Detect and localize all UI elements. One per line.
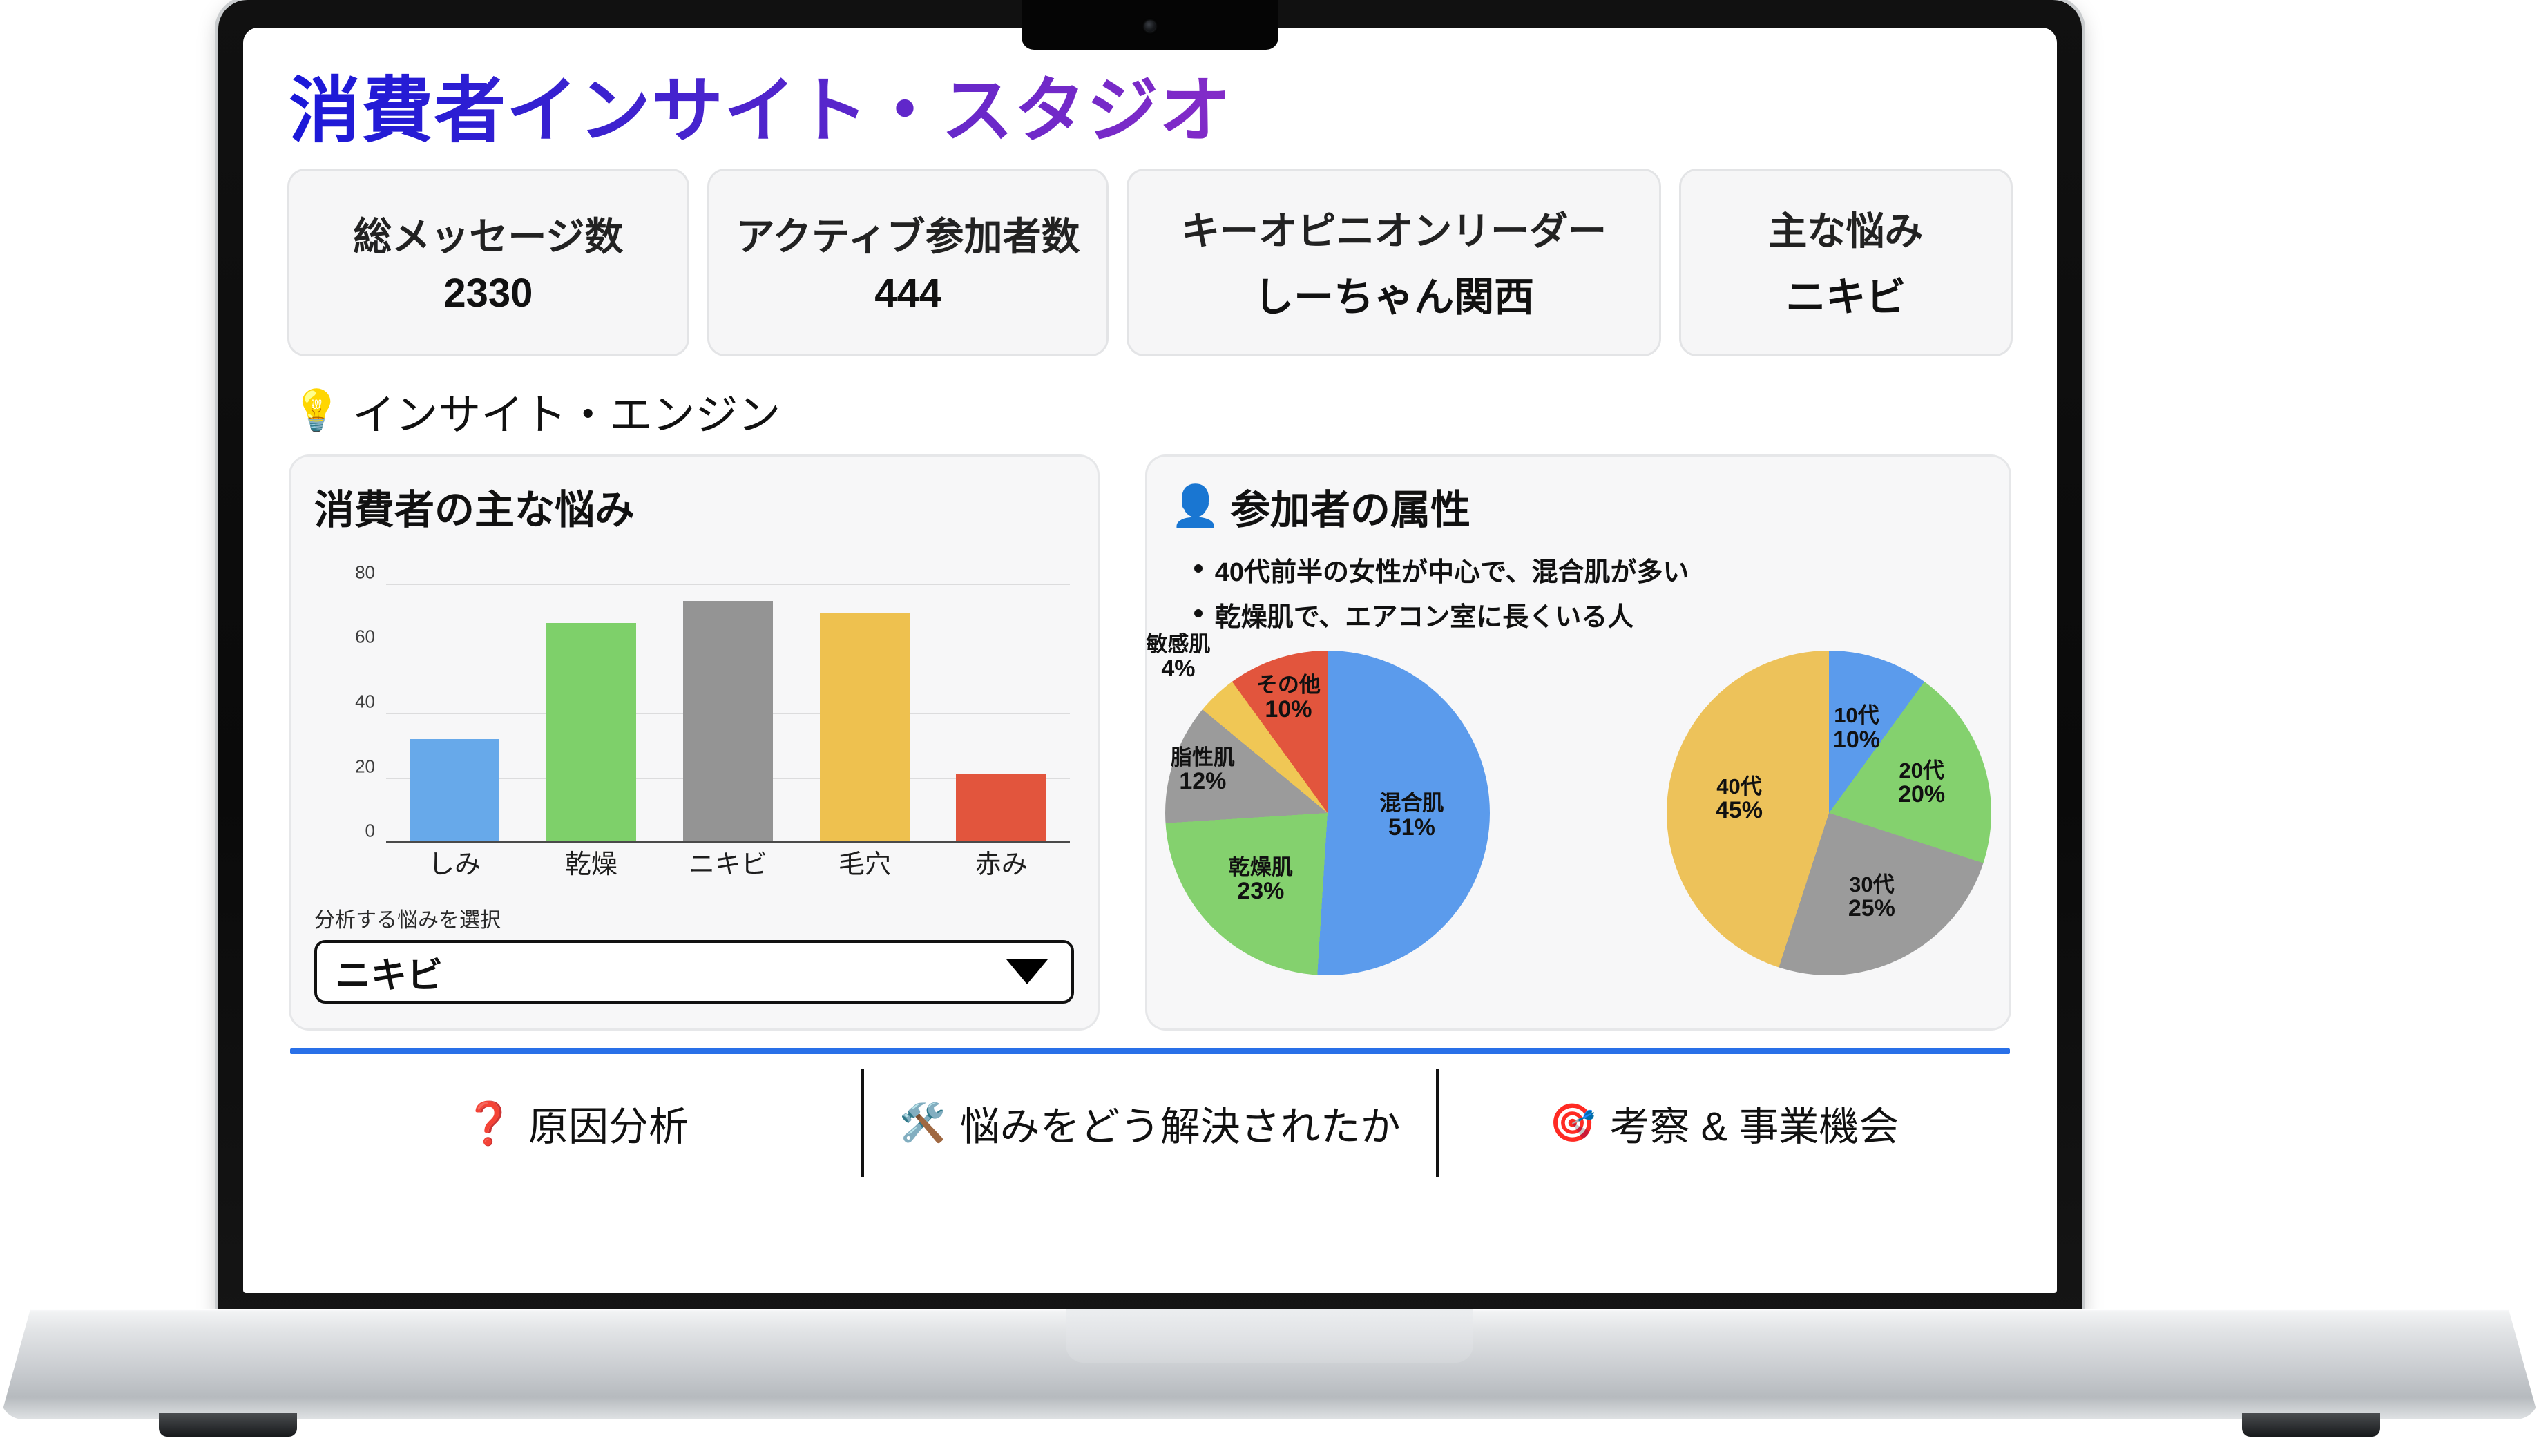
kpi-card-total-messages: 総メッセージ数 2330: [287, 169, 689, 356]
tab-cause-analysis[interactable]: ❓ 原因分析: [290, 1054, 861, 1192]
bar-chart: 020406080 しみ乾燥ニキビ毛穴赤み: [312, 562, 1077, 886]
kpi-value: 444: [874, 270, 941, 316]
pie-chart-age-group: 10代10%20代20%30代25%40代45%: [1667, 651, 1991, 975]
pie-slice-label: 20代20%: [1898, 759, 1945, 807]
bar-chart-x-tick: 赤み: [933, 843, 1070, 881]
tab-label: 悩みをどう解決されたか: [960, 1094, 1401, 1152]
pie-slice-name: その他: [1256, 673, 1321, 696]
bar-chart-y-tick: 80: [355, 562, 375, 583]
bullet-text: 乾燥肌で、エアコン室に長くいる人: [1215, 595, 1633, 633]
laptop-screen: 消費者インサイト・スタジオ 総メッセージ数 2330 アクティブ参加者数 444…: [243, 28, 2057, 1293]
pie-slice-name: 混合肌: [1379, 792, 1444, 814]
bar-chart-bar[interactable]: [546, 623, 637, 841]
laptop-base-notch: [1066, 1309, 1473, 1363]
bar-chart-bar[interactable]: [683, 601, 774, 842]
app-window: 消費者インサイト・スタジオ 総メッセージ数 2330 アクティブ参加者数 444…: [243, 28, 2057, 1293]
webcam-icon: [1144, 21, 1156, 32]
laptop-lid: 消費者インサイト・スタジオ 総メッセージ数 2330 アクティブ参加者数 444…: [218, 0, 2082, 1318]
insight-engine-header: 💡 インサイト・エンジン: [291, 380, 2018, 442]
concern-select-label: 分析する悩みを選択: [314, 903, 1074, 933]
bar-chart-bar[interactable]: [956, 774, 1046, 842]
bar-chart-y-tick: 60: [355, 626, 375, 648]
pie-slice-value: 10%: [1833, 727, 1880, 753]
bar-chart-y-tick: 20: [355, 756, 375, 777]
bar-chart-bar[interactable]: [820, 613, 910, 841]
webcam-notch: [1022, 0, 1278, 50]
pie-slice-name: 10代: [1833, 704, 1880, 727]
tab-how-resolved[interactable]: 🛠️ 悩みをどう解決されたか: [864, 1054, 1435, 1192]
bar-chart-bars: [386, 568, 1070, 841]
pie-slice-name: 20代: [1898, 759, 1945, 782]
tools-icon: 🛠️: [899, 1104, 946, 1142]
attribute-bullets: 40代前半の女性が中心で、混合肌が多い 乾燥肌で、エアコン室に長くいる人: [1194, 550, 1991, 633]
kpi-card-main-concern: 主な悩み ニキビ: [1679, 169, 2013, 356]
kpi-value: ニキビ: [1785, 265, 1906, 323]
kpi-card-key-opinion-leader: キーオピニオンリーダー しーちゃん関西: [1127, 169, 1660, 356]
insight-engine-label: インサイト・エンジン: [352, 380, 780, 442]
tab-insights-opportunities[interactable]: 🎯 考察 & 事業機会: [1439, 1054, 2010, 1192]
page-title: 消費者インサイト・スタジオ: [289, 72, 2018, 151]
bar-chart-slot: [386, 568, 523, 841]
bar-chart-slot: [933, 568, 1070, 841]
tab-label: 原因分析: [528, 1094, 689, 1152]
pie-slice-name: 乾燥肌: [1229, 856, 1293, 879]
panel-consumer-concerns: 消費者の主な悩み 020406080 しみ乾燥ニキビ毛穴赤み 分析する悩みを選択…: [289, 454, 1100, 1031]
pie-slice-label: その他10%: [1256, 673, 1321, 722]
pie-slice-value: 45%: [1716, 798, 1763, 823]
pie-slice-value: 4%: [1146, 656, 1210, 682]
dart-icon: 🎯: [1549, 1104, 1596, 1142]
bar-chart-x-tick: ニキビ: [660, 843, 796, 881]
pie-slice-value: 10%: [1256, 697, 1321, 722]
kpi-label: アクティブ参加者数: [736, 206, 1080, 262]
kpi-card-active-participants: アクティブ参加者数 444: [707, 169, 1109, 356]
panels-row: 消費者の主な悩み 020406080 しみ乾燥ニキビ毛穴赤み 分析する悩みを選択…: [289, 454, 2011, 1031]
panel-participant-attributes: 👤 参加者の属性 40代前半の女性が中心で、混合肌が多い 乾燥肌で、エアコン室に…: [1145, 454, 2011, 1031]
bullet-text: 40代前半の女性が中心で、混合肌が多い: [1215, 550, 1689, 588]
list-item: 40代前半の女性が中心で、混合肌が多い: [1194, 550, 1991, 588]
pie-charts-row: 混合肌51%乾燥肌23%脂性肌12%敏感肌4%その他10% 10代10%20代2…: [1165, 640, 1991, 986]
bar-chart-x-labels: しみ乾燥ニキビ毛穴赤み: [386, 843, 1070, 881]
kpi-value: しーちゃん関西: [1254, 265, 1534, 323]
kpi-value: 2330: [443, 270, 533, 316]
bar-chart-x-tick: 乾燥: [523, 843, 660, 881]
list-item: 乾燥肌で、エアコン室に長くいる人: [1194, 595, 1991, 633]
bar-chart-x-tick: 毛穴: [796, 843, 933, 881]
pie-slice-name: 脂性肌: [1171, 746, 1235, 769]
bar-chart-slot: [523, 568, 660, 841]
pie-slice-value: 12%: [1171, 769, 1235, 794]
pie-slice-label: 脂性肌12%: [1171, 746, 1235, 794]
pie-slice-label: 混合肌51%: [1379, 792, 1444, 840]
kpi-label: 総メッセージ数: [353, 206, 623, 262]
bar-chart-y-tick: 40: [355, 691, 375, 713]
concern-select[interactable]: ニキビ: [314, 940, 1074, 1004]
question-mark-icon: ❓: [463, 1099, 515, 1148]
lightbulb-icon: 💡: [291, 391, 341, 431]
pie-slice-label: 10代10%: [1833, 704, 1880, 752]
pie-slice-value: 25%: [1848, 896, 1895, 921]
bullet-icon: [1194, 609, 1203, 617]
footer-tabs: ❓ 原因分析 🛠️ 悩みをどう解決されたか 🎯 考察 & 事業機会: [290, 1054, 2010, 1192]
footer-divider: [290, 1048, 2010, 1054]
bar-chart-x-tick: しみ: [386, 843, 523, 881]
person-icon: 👤: [1171, 486, 1220, 526]
bar-chart-y-tick: 0: [365, 821, 375, 842]
pie-slice-name: 40代: [1716, 775, 1763, 798]
pie-slice-name: 敏感肌: [1146, 633, 1210, 655]
bar-chart-slot: [796, 568, 933, 841]
pie-slice-label: 敏感肌4%: [1146, 633, 1210, 681]
laptop-foot-left: [159, 1413, 297, 1437]
pie-slice-label: 30代25%: [1848, 873, 1895, 921]
pie-slice-label: 乾燥肌23%: [1229, 856, 1293, 904]
concern-select-value: ニキビ: [335, 946, 443, 998]
kpi-label: キーオピニオンリーダー: [1181, 200, 1607, 256]
chevron-down-icon[interactable]: [1006, 959, 1048, 984]
kpi-row: 総メッセージ数 2330 アクティブ参加者数 444 キーオピニオンリーダー し…: [287, 169, 2013, 356]
screenshot-root: 消費者インサイト・スタジオ 総メッセージ数 2330 アクティブ参加者数 444…: [0, 0, 2539, 1456]
pie-slice-value: 20%: [1898, 782, 1945, 807]
bar-chart-slot: [660, 568, 796, 841]
panel-title: 参加者の属性: [1230, 477, 1470, 535]
pie-slice-name: 30代: [1848, 873, 1895, 896]
pie-slice-label: 40代45%: [1716, 775, 1763, 823]
panel-title: 消費者の主な悩み: [314, 477, 1080, 535]
laptop-foot-right: [2242, 1413, 2380, 1437]
concern-select-block: 分析する悩みを選択 ニキビ: [314, 903, 1074, 1004]
bar-chart-bar[interactable]: [410, 739, 500, 842]
tab-label: 考察 & 事業機会: [1609, 1094, 1899, 1152]
pie-chart-skin-type: 混合肌51%乾燥肌23%脂性肌12%敏感肌4%その他10%: [1165, 651, 1490, 975]
bullet-icon: [1194, 564, 1203, 573]
pie-slice-value: 51%: [1379, 815, 1444, 841]
bar-chart-plot: 020406080: [386, 568, 1070, 843]
panel-title-row: 👤 参加者の属性: [1171, 477, 1991, 535]
kpi-label: 主な悩み: [1768, 200, 1923, 256]
pie-slice-value: 23%: [1229, 879, 1293, 904]
